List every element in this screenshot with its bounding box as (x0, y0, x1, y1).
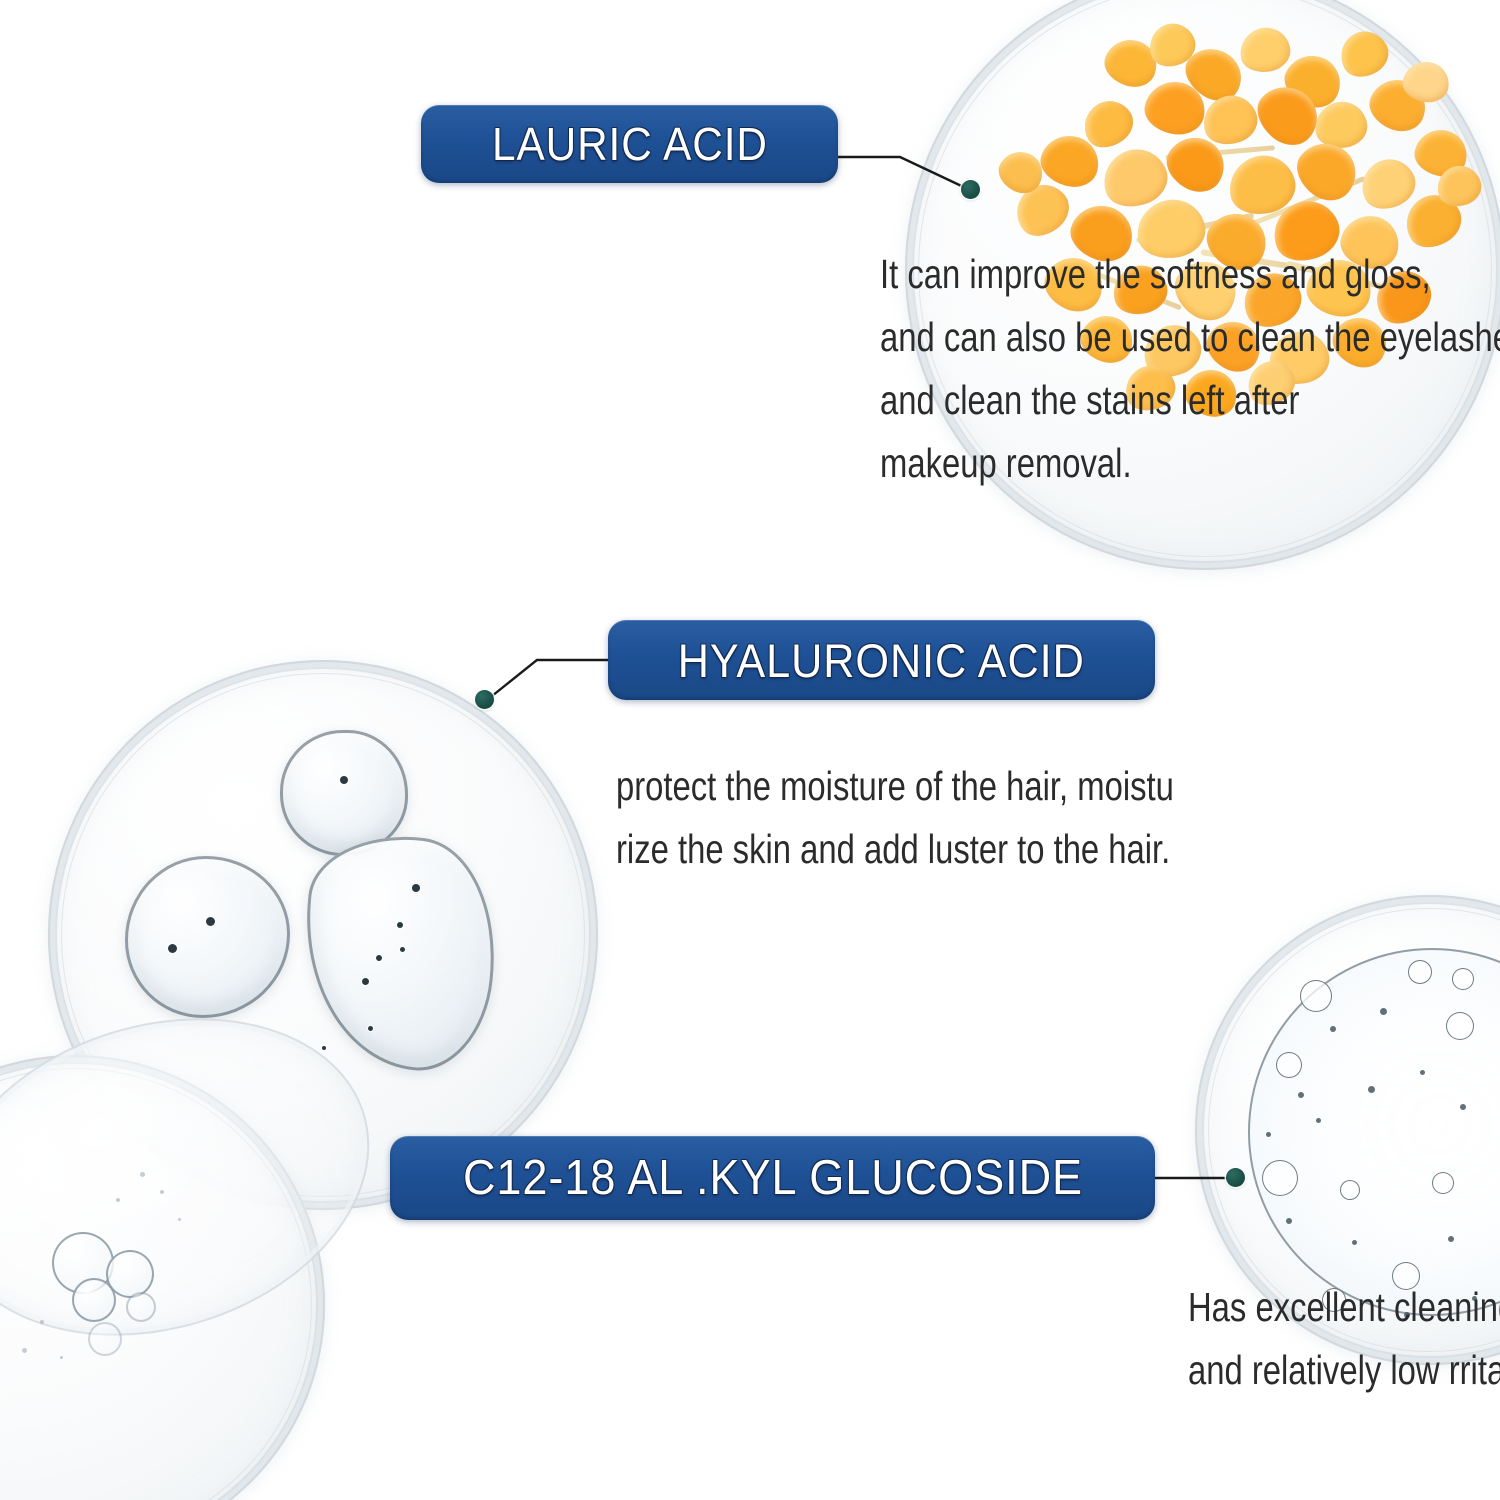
leader-line-lauric-acid (838, 157, 970, 190)
anchor-dot-lauric-acid (961, 180, 980, 199)
callout-label-lauric-acid[interactable]: LAURIC ACID (421, 105, 838, 183)
callout-label-text: LAURIC ACID (492, 117, 768, 171)
bubble (88, 1322, 122, 1356)
callout-label-text: HYALURONIC ACID (678, 633, 1085, 688)
callout-label-hyaluronic-acid[interactable]: HYALURONIC ACID (608, 620, 1155, 700)
gel-droplet-small (280, 730, 408, 856)
callout-label-alkyl-glucoside[interactable]: C12-18 AL .KYL GLUCOSIDE (390, 1136, 1155, 1220)
anchor-dot-hyaluronic-acid (475, 690, 494, 709)
leader-lines (0, 0, 1500, 1500)
ingredient-infographic: LAURIC ACID It can improve the softness … (0, 0, 1500, 1500)
bubble (106, 1250, 154, 1298)
anchor-dot-alkyl-glucoside (1226, 1168, 1245, 1187)
ingredient-photos (0, 0, 1500, 1500)
gel-droplet-irregular (291, 827, 506, 1078)
leader-line-hyaluronic-acid (487, 660, 608, 700)
petri-dish-bubbles-left (0, 1055, 325, 1500)
petri-dish-lid (0, 968, 409, 1386)
bubble (72, 1278, 116, 1322)
gel-droplet-large (125, 856, 290, 1018)
bubble (126, 1292, 156, 1322)
petri-dish-gel (48, 660, 598, 1210)
bubble (52, 1232, 114, 1294)
callout-label-text: C12-18 AL .KYL GLUCOSIDE (462, 1150, 1082, 1206)
bubble-liquid-surface (1248, 948, 1500, 1316)
